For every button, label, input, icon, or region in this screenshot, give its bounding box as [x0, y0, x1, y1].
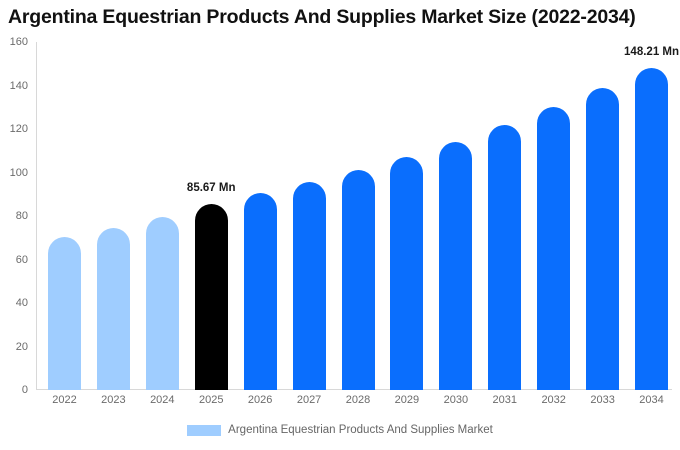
bar-slot-2032: [537, 42, 570, 390]
y-axis-tick-40: 40: [0, 297, 28, 309]
y-axis-tick-0: 0: [0, 384, 28, 396]
y-axis-tick-60: 60: [0, 254, 28, 266]
y-axis-tick-160: 160: [0, 36, 28, 48]
x-axis-tick-2024: 2024: [138, 394, 187, 406]
plot-area: 85.67 Mn148.21 Mn: [36, 42, 672, 390]
bar-2028[interactable]: [342, 170, 375, 390]
x-axis-tick-2022: 2022: [40, 394, 89, 406]
bar-slot-2031: [488, 42, 521, 390]
bar-slot-2030: [439, 42, 472, 390]
bar-chart: Argentina Equestrian Products And Suppli…: [0, 0, 680, 450]
bar-slot-2022: [48, 42, 81, 390]
bar-slot-2023: [97, 42, 130, 390]
legend-item[interactable]: Argentina Equestrian Products And Suppli…: [187, 424, 493, 436]
x-axis-tick-2033: 2033: [578, 394, 627, 406]
y-axis-tick-120: 120: [0, 123, 28, 135]
x-axis-tick-2026: 2026: [236, 394, 285, 406]
bar-slot-2033: [586, 42, 619, 390]
x-axis-tick-2032: 2032: [529, 394, 578, 406]
bar-2022[interactable]: [48, 237, 81, 390]
bar-2027[interactable]: [293, 182, 326, 390]
bar-slot-2029: [390, 42, 423, 390]
y-axis-line: [36, 42, 37, 390]
bar-value-label-2034: 148.21 Mn: [624, 46, 679, 58]
bar-slot-2024: [146, 42, 179, 390]
x-axis-tick-2028: 2028: [334, 394, 383, 406]
chart-title: Argentina Equestrian Products And Suppli…: [8, 6, 680, 29]
bar-2029[interactable]: [390, 157, 423, 390]
x-axis-tick-2029: 2029: [382, 394, 431, 406]
bar-2033[interactable]: [586, 88, 619, 390]
x-axis-tick-2025: 2025: [187, 394, 236, 406]
x-axis-tick-labels: 2022202320242025202620272028202920302031…: [36, 394, 672, 414]
bar-slot-2025: [195, 42, 228, 390]
legend-label: Argentina Equestrian Products And Suppli…: [228, 424, 493, 436]
y-axis-tick-140: 140: [0, 80, 28, 92]
bar-2034[interactable]: [635, 68, 668, 390]
x-axis-tick-2027: 2027: [285, 394, 334, 406]
x-axis-tick-2023: 2023: [89, 394, 138, 406]
legend-swatch-icon: [187, 425, 221, 436]
y-axis-tick-labels: 020406080100120140160: [0, 42, 36, 390]
bar-2032[interactable]: [537, 107, 570, 390]
bar-slot-2034: [635, 42, 668, 390]
bar-value-label-2025: 85.67 Mn: [187, 182, 236, 194]
bar-slot-2026: [244, 42, 277, 390]
chart-legend: Argentina Equestrian Products And Suppli…: [0, 424, 680, 436]
bar-2026[interactable]: [244, 193, 277, 390]
x-axis-tick-2034: 2034: [627, 394, 676, 406]
y-axis-tick-80: 80: [0, 210, 28, 222]
bar-slot-2028: [342, 42, 375, 390]
y-axis-tick-20: 20: [0, 341, 28, 353]
bar-2023[interactable]: [97, 228, 130, 390]
bar-2025[interactable]: [195, 204, 228, 390]
bar-2031[interactable]: [488, 125, 521, 390]
y-axis-tick-100: 100: [0, 167, 28, 179]
x-axis-tick-2031: 2031: [480, 394, 529, 406]
bar-2024[interactable]: [146, 217, 179, 390]
x-axis-tick-2030: 2030: [431, 394, 480, 406]
bar-2030[interactable]: [439, 142, 472, 390]
bar-slot-2027: [293, 42, 326, 390]
